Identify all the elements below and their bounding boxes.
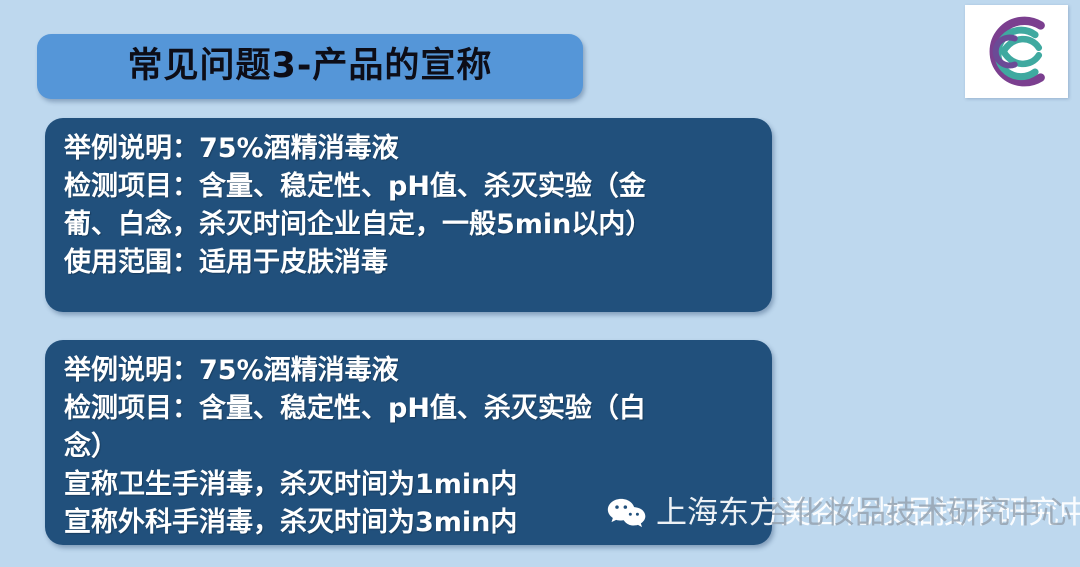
slide-title-pill: 常见问题3-产品的宣称 xyxy=(37,34,583,99)
content-line: 念） xyxy=(64,428,756,466)
content-line: 宣称卫生手消毒，杀灭时间为1min内 xyxy=(64,466,756,504)
watermark-text-overflow: 上海东方美谷化妆品技术研究中心 xyxy=(772,496,1072,536)
content-line: 宣称外科手消毒，杀灭时间为3min内 xyxy=(64,504,756,542)
content-line: 举例说明：75%酒精消毒液 xyxy=(64,130,756,168)
content-box-example-hand: 举例说明：75%酒精消毒液 检测项目：含量、稳定性、pH值、杀灭实验（白 念） … xyxy=(45,340,772,545)
content-line: 葡、白念，杀灭时间企业自定，一般5min以内） xyxy=(64,206,756,244)
page-title: 常见问题3-产品的宣称 xyxy=(128,49,493,84)
content-line: 使用范围：适用于皮肤消毒 xyxy=(64,244,756,282)
content-line: 举例说明：75%酒精消毒液 xyxy=(64,352,756,390)
watermark-text-light-portion: 上海东方美谷化妆品技术研究中心 xyxy=(772,496,1072,530)
content-line: 检测项目：含量、稳定性、pH值、杀灭实验（白 xyxy=(64,390,756,428)
content-line: 检测项目：含量、稳定性、pH值、杀灭实验（金 xyxy=(64,168,756,206)
company-logo-icon xyxy=(965,5,1068,98)
content-box-example-skin: 举例说明：75%酒精消毒液 检测项目：含量、稳定性、pH值、杀灭实验（金 葡、白… xyxy=(45,118,772,312)
slide-canvas: 常见问题3-产品的宣称 举例说明：75%酒精消毒液 检测项目：含量、稳定性、pH… xyxy=(0,0,1080,567)
company-logo-card xyxy=(965,5,1068,98)
